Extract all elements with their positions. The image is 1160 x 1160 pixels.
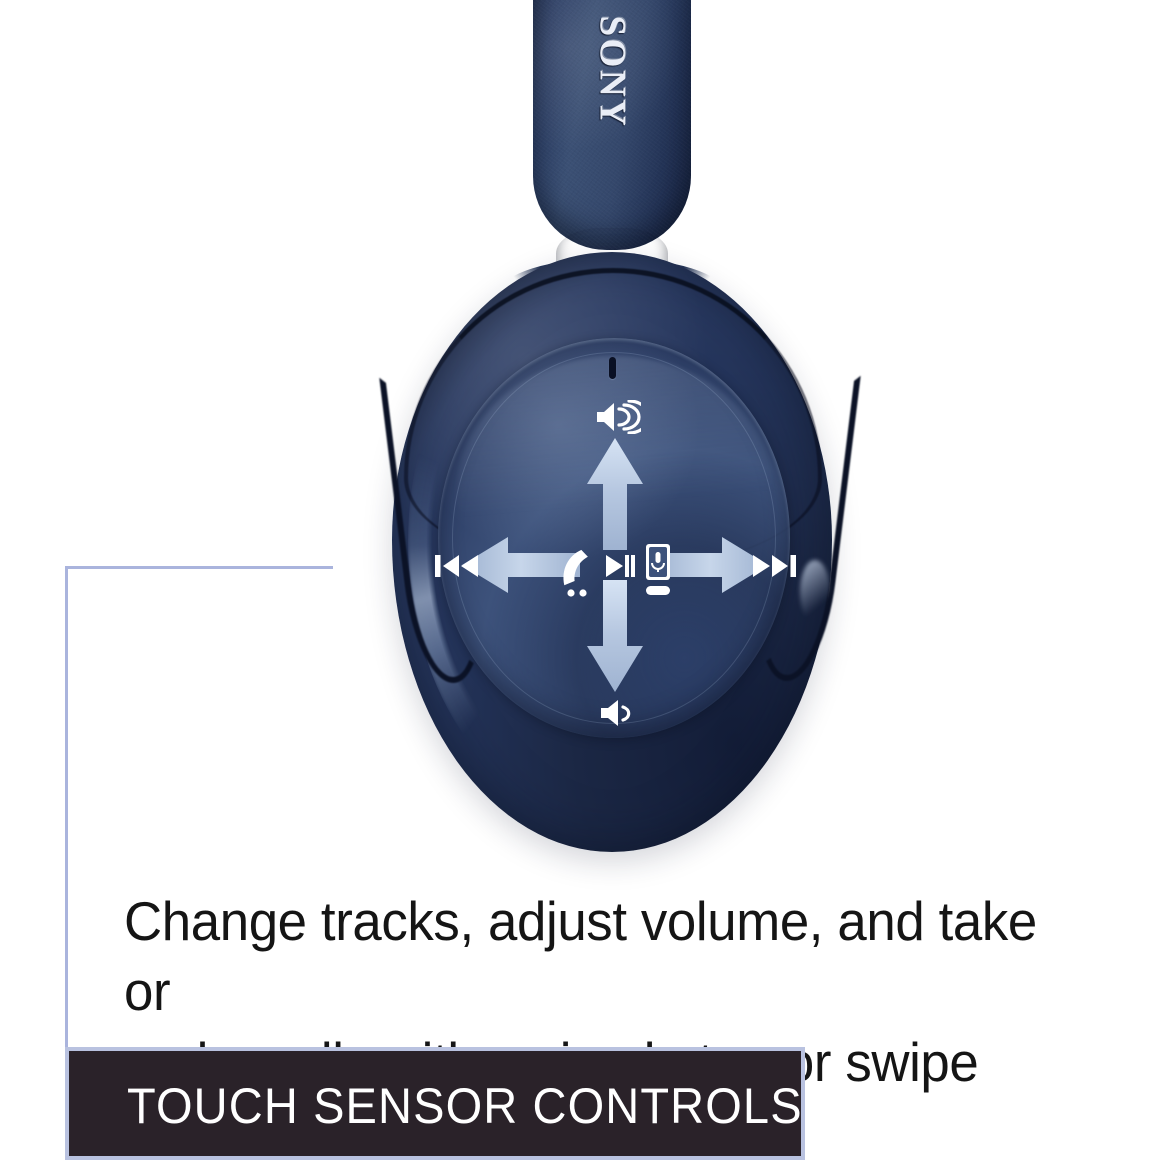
product-feature-image: SONY	[0, 0, 1160, 1160]
touch-gesture-overlay	[430, 400, 800, 730]
caption-line-1: Change tracks, adjust volume, and take o…	[124, 886, 1084, 1027]
arrow-up	[587, 438, 643, 550]
volume-up-icon	[593, 400, 641, 434]
phone-call-icon	[558, 548, 598, 598]
voice-assistant-icon	[642, 544, 674, 598]
next-track-icon	[752, 552, 796, 580]
headband-slider: SONY	[533, 0, 691, 250]
previous-track-icon	[435, 552, 479, 580]
double-tap-dot-1	[567, 589, 574, 596]
feature-banner: TOUCH SENSOR CONTROLS	[65, 1047, 805, 1160]
double-tap-dot-2	[579, 589, 586, 596]
play-pause-icon	[606, 554, 636, 578]
touch-hold-bar	[646, 586, 670, 595]
volume-down-icon	[598, 698, 632, 728]
sony-brand-logo: SONY	[591, 16, 634, 129]
banner-title: TOUCH SENSOR CONTROLS	[127, 1077, 803, 1135]
earcup-seam-hook-right-highlight	[800, 560, 830, 624]
microphone-slot	[609, 357, 616, 379]
